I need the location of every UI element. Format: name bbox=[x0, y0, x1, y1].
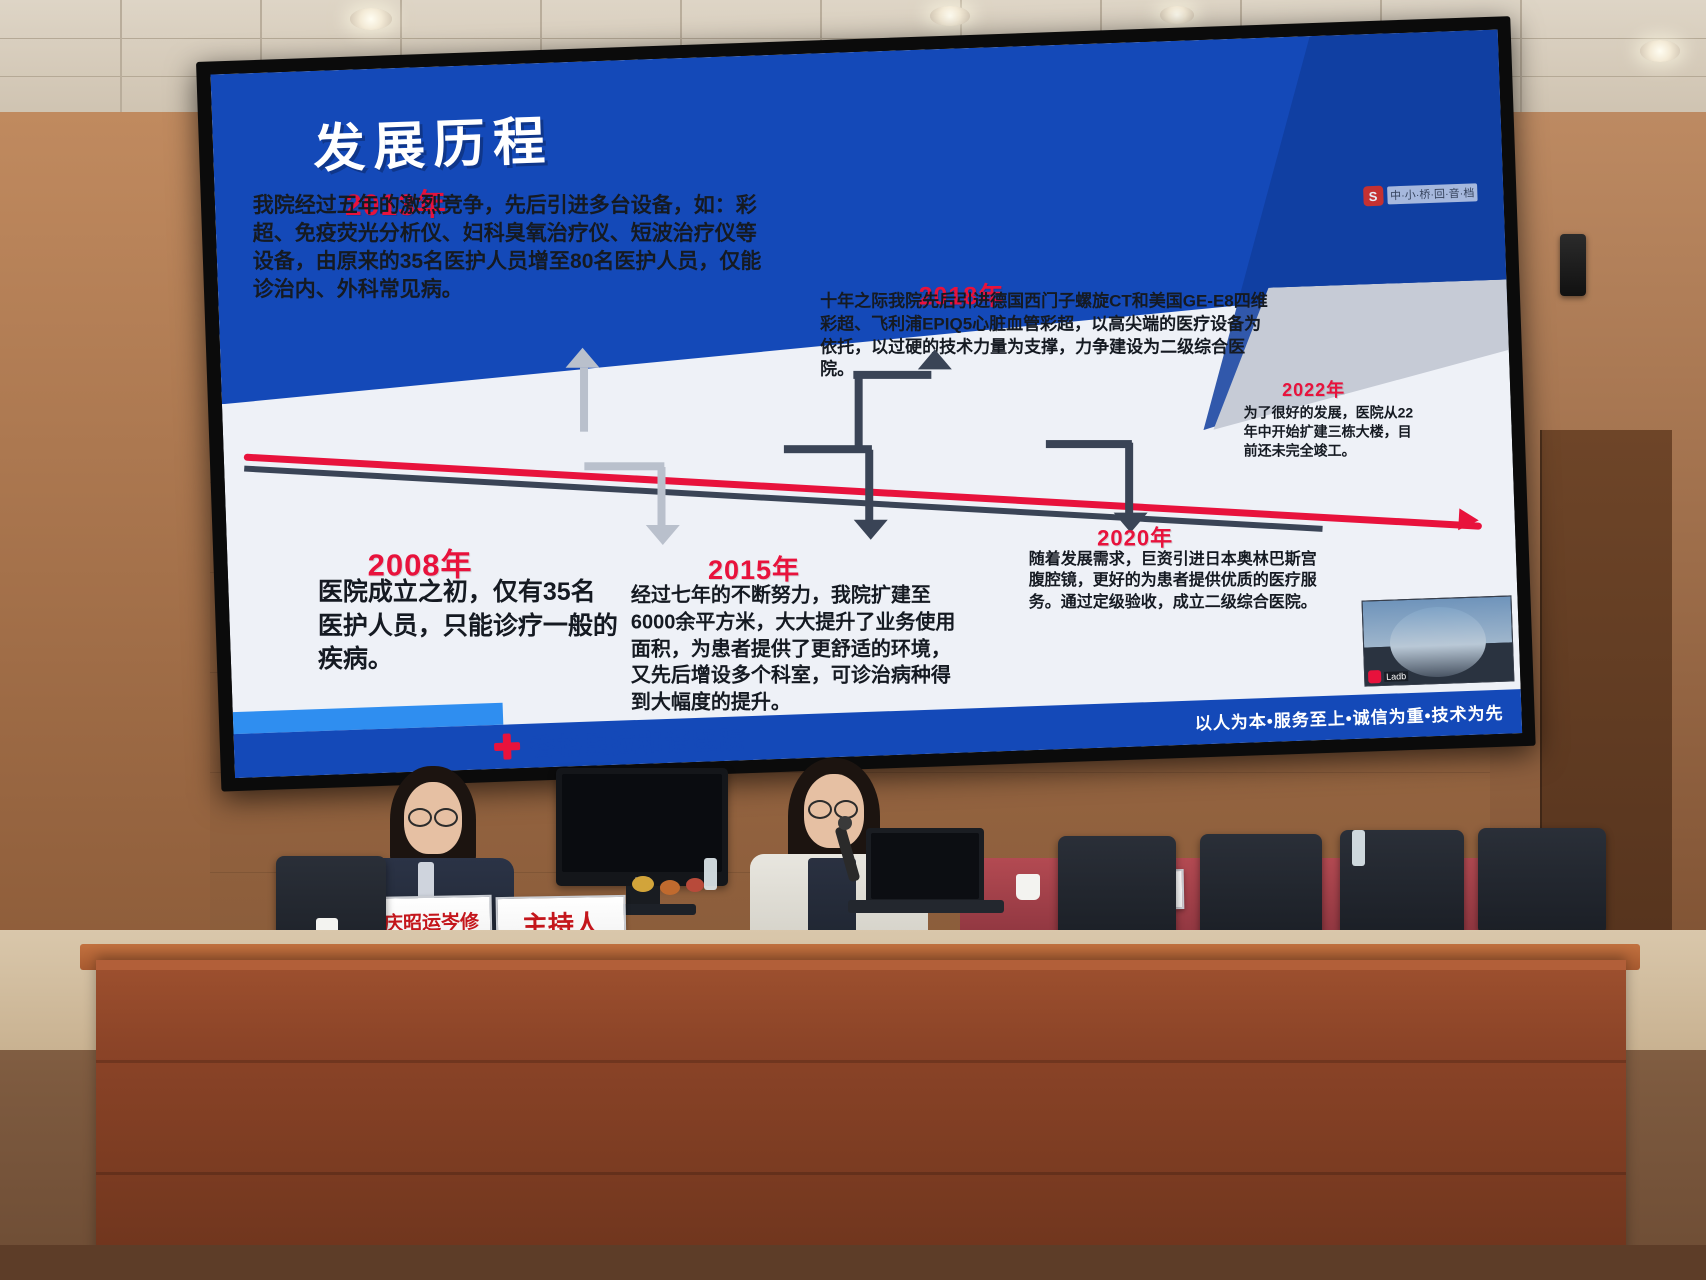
arrow-head-2018 bbox=[918, 349, 952, 369]
milestone-text-2018: 十年之际我院先后引进德国西门子螺旋CT和美国GE-E8四维彩超、飞利浦EPIQ5… bbox=[820, 291, 1270, 382]
connector-2018-h bbox=[853, 371, 931, 379]
arrow-head-2008 bbox=[646, 525, 680, 545]
connector-2013 bbox=[580, 368, 588, 432]
connector-2008-h bbox=[584, 462, 664, 470]
connector-2020-h bbox=[1046, 440, 1132, 448]
screen-surface: 发展历程 S 中·小·桥·回·音·档 2013年 我院经过五年的激烈竞争，先后引… bbox=[210, 30, 1522, 779]
projection-screen[interactable]: 发展历程 S 中·小·桥·回·音·档 2013年 我院经过五年的激烈竞争，先后引… bbox=[196, 16, 1536, 791]
timeline-axis-red bbox=[244, 454, 1482, 530]
floor bbox=[0, 1245, 1706, 1280]
footer-slogan: 以人为本•服务至上•诚信为重•技术为先 bbox=[1194, 699, 1504, 735]
milestone-year-2015: 2015年 bbox=[708, 548, 800, 587]
wall-speaker bbox=[1560, 234, 1586, 296]
monitor-screen bbox=[562, 774, 722, 872]
red-cross-icon bbox=[492, 731, 523, 762]
laptop-keyboard[interactable] bbox=[848, 900, 1004, 913]
scene-root: 发展历程 S 中·小·桥·回·音·档 2013年 我院经过五年的激烈竞争，先后引… bbox=[0, 0, 1706, 1280]
watermark: S 中·小·桥·回·音·档 bbox=[1363, 182, 1478, 206]
video-pip[interactable]: Ladb bbox=[1362, 595, 1515, 686]
glasses-icon bbox=[408, 808, 432, 827]
timeline-arrowhead bbox=[1458, 508, 1479, 531]
desktop-monitor[interactable]: AOC bbox=[556, 768, 728, 886]
laptop-screen bbox=[871, 833, 979, 899]
connector-2018 bbox=[855, 378, 863, 448]
pip-label-group: Ladb bbox=[1368, 669, 1408, 683]
arrow-head-2015 bbox=[854, 520, 888, 540]
podium-panel-line bbox=[96, 1172, 1626, 1175]
ceiling-light bbox=[930, 6, 970, 26]
podium-panel-line bbox=[96, 1060, 1626, 1063]
glasses-icon bbox=[808, 800, 832, 819]
milestone-text-2022: 为了很好的发展，医院从22年中开始扩建三栋大楼，目前还未完全竣工。 bbox=[1244, 404, 1424, 460]
chair[interactable] bbox=[1058, 836, 1176, 940]
water-bottle[interactable] bbox=[1352, 830, 1365, 866]
milestone-text-2008: 医院成立之初，仅有35名医护人员，只能诊疗一般的疾病。 bbox=[318, 576, 618, 677]
pip-label: Ladb bbox=[1384, 671, 1408, 682]
connector-2020 bbox=[1125, 443, 1133, 517]
watermark-label: 中·小·桥·回·音·档 bbox=[1387, 183, 1478, 204]
milestone-text-2020: 随着发展需求，巨资引进日本奥林巴斯宫腹腔镜，更好的为患者提供优质的医疗服务。通过… bbox=[1029, 549, 1319, 613]
chair[interactable] bbox=[1200, 834, 1322, 938]
microphone-head-icon bbox=[838, 816, 852, 830]
laptop[interactable] bbox=[866, 828, 984, 904]
footer-hospital-name: 香格里拉和谐医院 bbox=[529, 720, 746, 764]
milestone-text-2015: 经过七年的不断努力，我院扩建至6000余平方米，大大提升了业务使用面积，为患者提… bbox=[631, 582, 961, 716]
flower-decor bbox=[686, 878, 704, 892]
pip-chip-icon bbox=[1368, 670, 1381, 683]
paper-cup[interactable] bbox=[1016, 874, 1040, 900]
watermark-badge: S bbox=[1363, 186, 1384, 207]
ceiling-light bbox=[1640, 40, 1680, 62]
podium-front bbox=[96, 960, 1626, 1280]
ceiling-light bbox=[350, 8, 392, 30]
slide-title: 发展历程 bbox=[312, 99, 554, 182]
chair[interactable] bbox=[1478, 828, 1606, 932]
connector-2015 bbox=[865, 450, 873, 524]
ceiling-light bbox=[1160, 6, 1194, 24]
water-bottle[interactable] bbox=[704, 858, 717, 890]
milestone-text-2013: 我院经过五年的激烈竞争，先后引进多台设备，如：彩超、免疫荧光分析仪、妇科臭氧治疗… bbox=[253, 192, 773, 305]
connector-2008 bbox=[658, 467, 666, 529]
glasses-icon bbox=[434, 808, 458, 827]
wall-panel-left bbox=[0, 112, 210, 972]
milestone-year-2020: 2020年 bbox=[1097, 521, 1173, 553]
flower-decor bbox=[660, 880, 680, 895]
milestone-year-2022: 2022年 bbox=[1282, 376, 1345, 402]
arrow-head-2013 bbox=[566, 348, 600, 368]
flower-decor bbox=[632, 876, 654, 892]
slide-canvas: 发展历程 S 中·小·桥·回·音·档 2013年 我院经过五年的激烈竞争，先后引… bbox=[210, 30, 1522, 779]
